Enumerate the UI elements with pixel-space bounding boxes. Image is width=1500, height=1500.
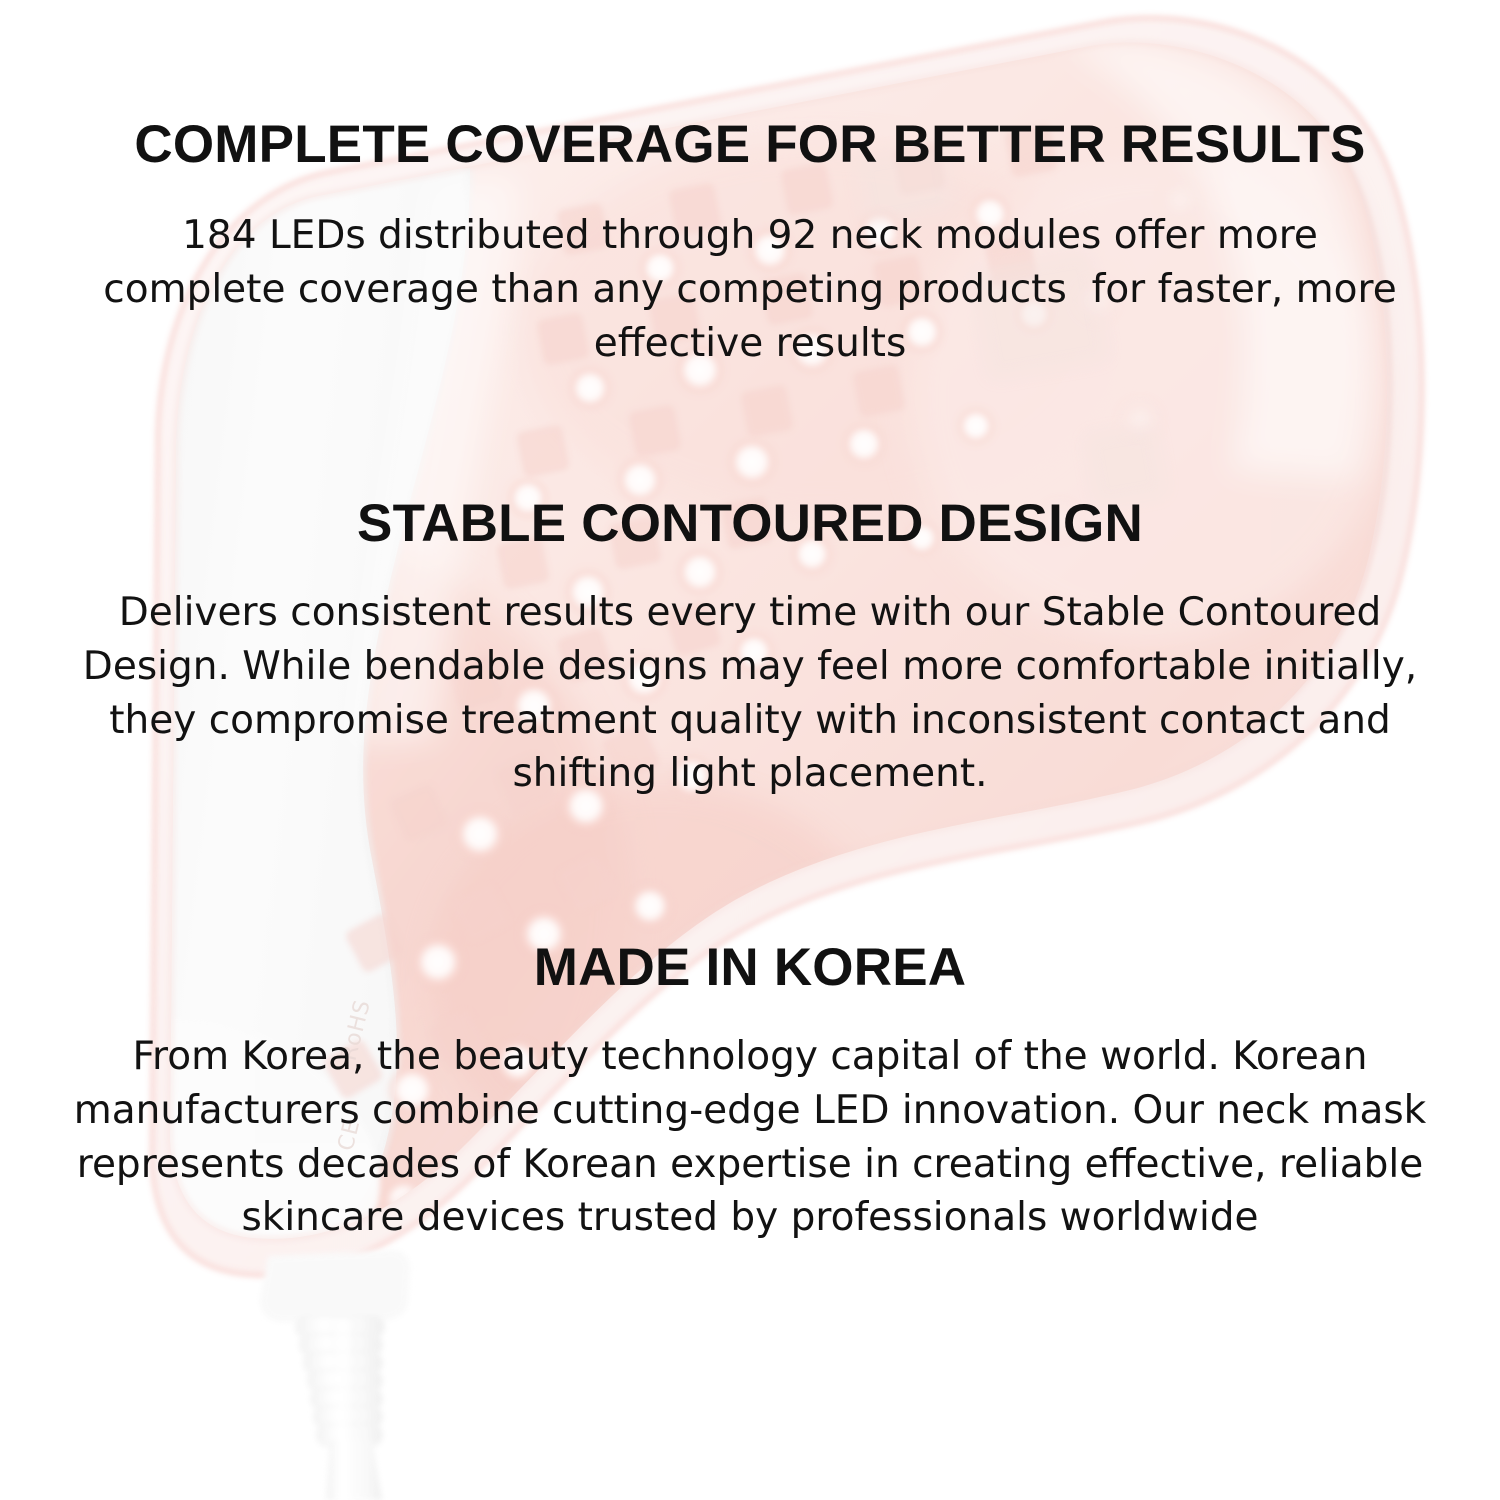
heading-complete-coverage: COMPLETE COVERAGE FOR BETTER RESULTS [0, 118, 1500, 171]
section-stable-contoured-design: STABLE CONTOURED DESIGN Delivers consist… [0, 497, 1500, 801]
section-made-in-korea: MADE IN KOREA From Korea, the beauty tec… [0, 941, 1500, 1245]
heading-stable-contoured-design: STABLE CONTOURED DESIGN [0, 497, 1500, 550]
body-made-in-korea: From Korea, the beauty technology capita… [40, 1030, 1460, 1245]
feature-panel-canvas: RoHS CE RoHS [0, 0, 1500, 1500]
body-stable-contoured-design: Delivers consistent results every time w… [50, 586, 1450, 801]
heading-made-in-korea: MADE IN KOREA [0, 941, 1500, 994]
section-complete-coverage: COMPLETE COVERAGE FOR BETTER RESULTS 184… [0, 118, 1500, 370]
marketing-copy-overlay: COMPLETE COVERAGE FOR BETTER RESULTS 184… [0, 0, 1500, 1500]
body-complete-coverage: 184 LEDs distributed through 92 neck mod… [85, 209, 1415, 370]
